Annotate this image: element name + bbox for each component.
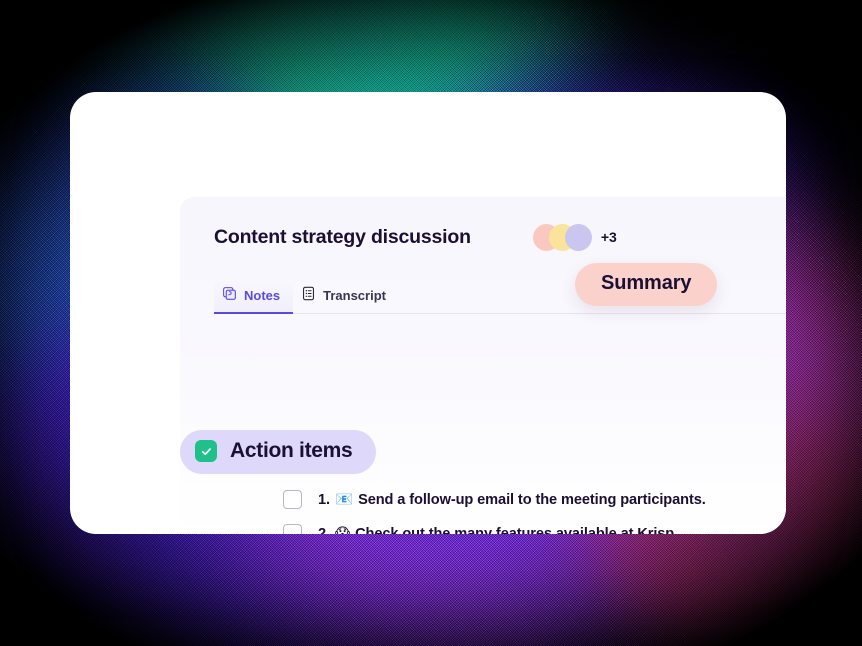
notes-icon [222,286,237,304]
meeting-notes-card: Content strategy discussion +3 [70,92,786,534]
todo-checkbox[interactable] [283,490,302,509]
meeting-title: Content strategy discussion [214,226,471,249]
todo-emoji: 😱 [335,525,350,535]
todo-label: 2.😱Check out the many features available… [318,525,674,535]
tab-notes[interactable]: Notes [214,280,293,314]
todo-text: Check out the many features available at… [355,526,674,535]
checkbox-checked-icon [195,440,217,462]
todo-checkbox[interactable] [283,524,302,535]
action-items-title: Action items [230,439,352,463]
screenshot-stage: Content strategy discussion +3 [0,0,862,646]
action-items-header: Action items [180,430,376,474]
tab-notes-label: Notes [244,288,280,303]
list-item: 1.📧Send a follow-up email to the meeting… [283,482,786,516]
todo-label: 1.📧Send a follow-up email to the meeting… [318,490,706,508]
todo-number: 1. [318,492,330,508]
list-item: 2.😱Check out the many features available… [283,516,786,534]
todo-emoji: 📧 [335,491,353,508]
todo-number: 2. [318,526,330,535]
avatar[interactable] [565,224,592,251]
transcript-icon [301,286,316,304]
participants-group[interactable]: +3 [533,224,617,251]
summary-badge[interactable]: Summary [575,263,717,306]
participants-overflow-count: +3 [601,229,617,245]
todo-text: Send a follow-up email to the meeting pa… [358,492,706,508]
tab-transcript-label: Transcript [323,288,386,303]
tab-transcript[interactable]: Transcript [293,280,399,314]
action-items-list: 1.📧Send a follow-up email to the meeting… [283,482,786,534]
title-row: Content strategy discussion +3 [214,220,786,254]
